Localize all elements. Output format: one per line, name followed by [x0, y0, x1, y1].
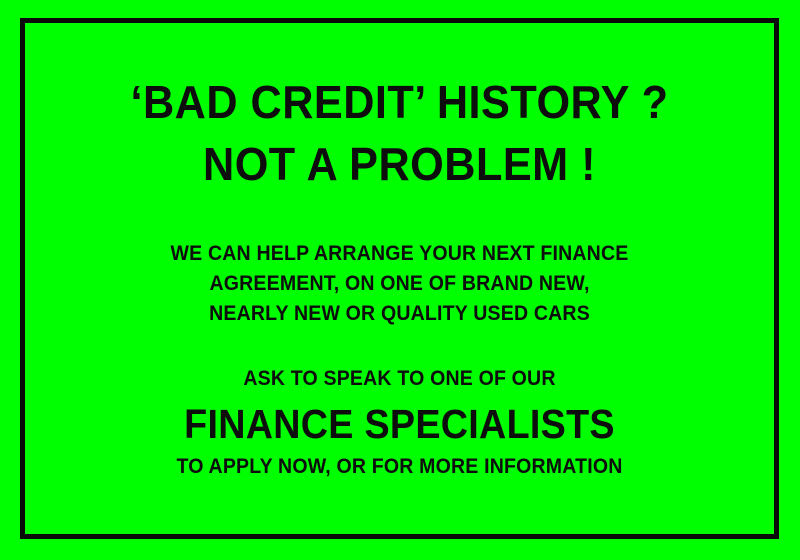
body-line-2: AGREEMENT, ON ONE OF BRAND NEW, — [51, 269, 748, 299]
headline-line-2: NOT A PROBLEM ! — [47, 141, 751, 187]
body-line-3: NEARLY NEW OR QUALITY USED CARS — [51, 299, 748, 329]
cta-lead-text: ASK TO SPEAK TO ONE OF OUR — [51, 366, 748, 391]
call-to-action-block: ASK TO SPEAK TO ONE OF OUR FINANCE SPECI… — [25, 366, 774, 479]
cta-footer-text: TO APPLY NOW, OR FOR MORE INFORMATION — [51, 454, 748, 479]
body-copy-block: WE CAN HELP ARRANGE YOUR NEXT FINANCE AG… — [25, 239, 774, 330]
cta-headline-text: FINANCE SPECIALISTS — [55, 403, 744, 446]
poster-content: ‘BAD CREDIT’ HISTORY ? NOT A PROBLEM ! W… — [25, 23, 774, 534]
headline-block: ‘BAD CREDIT’ HISTORY ? NOT A PROBLEM ! — [25, 79, 774, 187]
body-line-1: WE CAN HELP ARRANGE YOUR NEXT FINANCE — [51, 239, 748, 269]
finance-advert-poster: ‘BAD CREDIT’ HISTORY ? NOT A PROBLEM ! W… — [0, 0, 800, 560]
headline-line-1: ‘BAD CREDIT’ HISTORY ? — [47, 79, 751, 125]
